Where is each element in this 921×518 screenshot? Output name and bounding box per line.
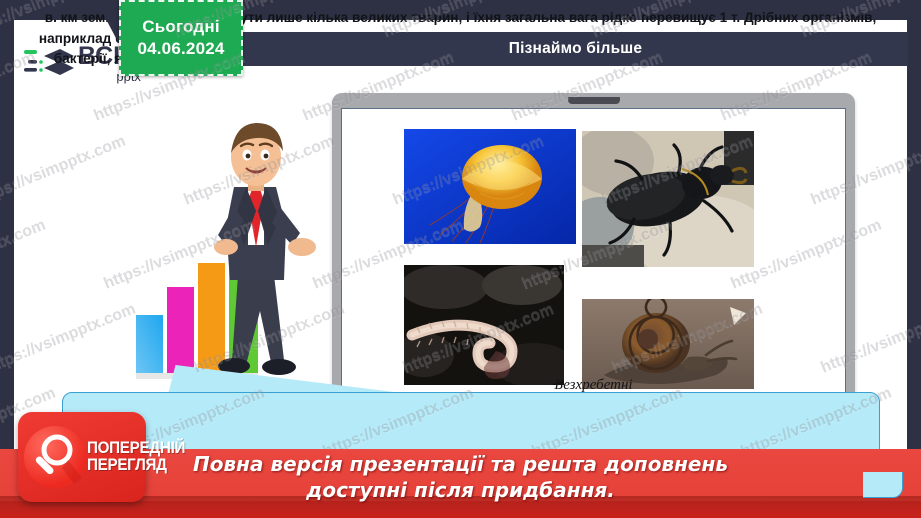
snail-photo bbox=[582, 299, 754, 389]
magnifier-icon bbox=[24, 426, 86, 488]
monitor-screen: Безхребетні bbox=[341, 108, 846, 399]
businessman-svg bbox=[134, 115, 324, 400]
slide-title-bar: Пізнаймо більше bbox=[243, 32, 908, 66]
slide-title: Пізнаймо більше bbox=[509, 40, 643, 58]
preview-badge-words: ПОПЕРЕДНІЙ ПЕРЕГЛЯД bbox=[87, 440, 194, 474]
worm-photo bbox=[404, 265, 564, 385]
preview-badge-line2: ПЕРЕГЛЯД bbox=[87, 457, 185, 474]
businessman-illustration bbox=[134, 115, 324, 400]
date-badge: Сьогодні 04.06.2024 bbox=[119, 0, 243, 76]
date-badge-value: 04.06.2024 bbox=[137, 39, 224, 59]
date-badge-label: Сьогодні bbox=[142, 17, 220, 37]
preview-badge[interactable]: ПОПЕРЕДНІЙ ПЕРЕГЛЯД bbox=[18, 412, 146, 502]
preview-badge-line1: ПОПЕРЕДНІЙ bbox=[87, 440, 185, 457]
slide-stage: Безхребетні ВСІМ pptx bbox=[0, 0, 921, 518]
beetle-photo bbox=[582, 131, 754, 267]
monitor-frame: Безхребетні bbox=[332, 93, 855, 407]
jellyfish-photo bbox=[404, 129, 576, 244]
